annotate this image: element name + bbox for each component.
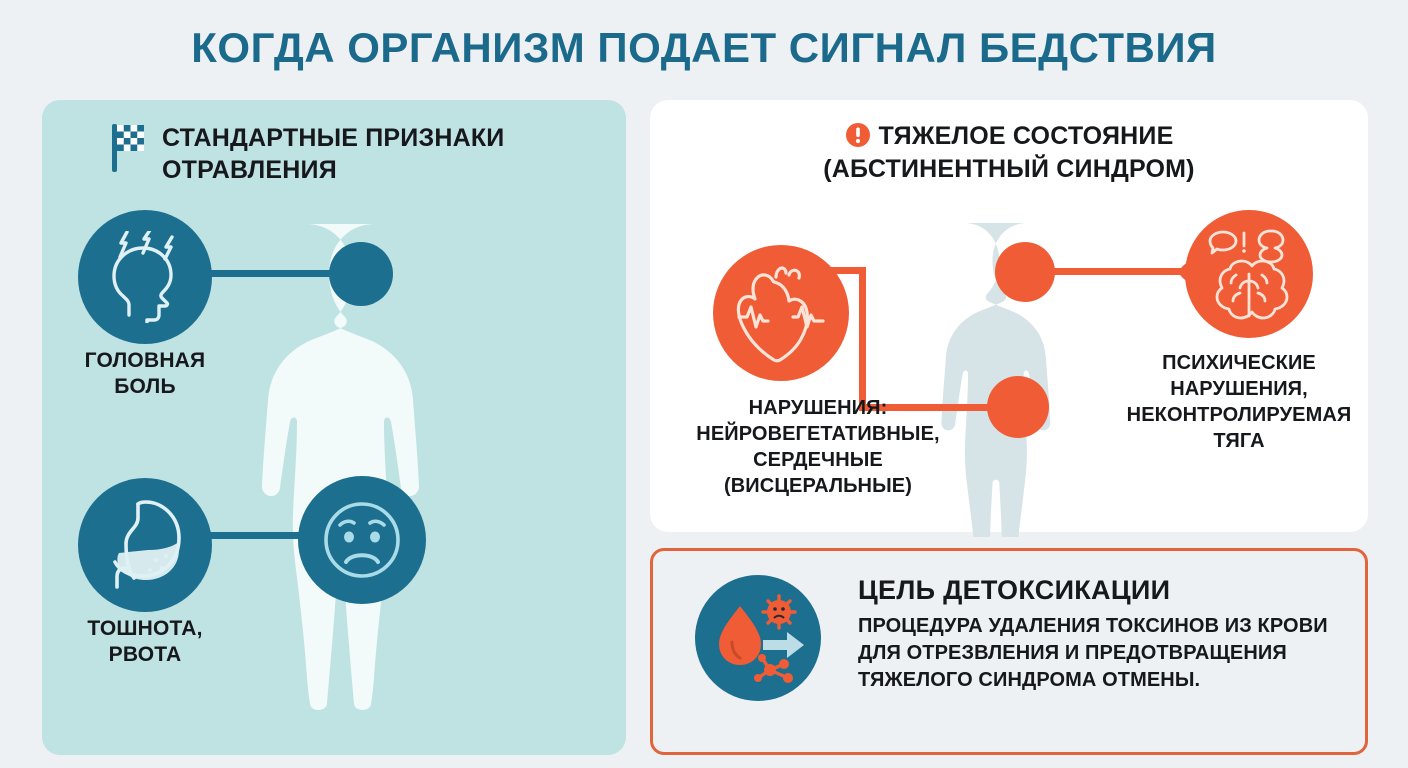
- label-nausea-line2: РВОТА: [109, 643, 182, 666]
- label-nausea-line1: ТОШНОТА,: [87, 617, 202, 640]
- left-heading-line1: СТАНДАРТНЫЕ ПРИЗНАКИ: [162, 124, 504, 152]
- stomach-icon: [98, 498, 192, 592]
- connector-brain: [1049, 268, 1183, 275]
- heart-icon-circle: [713, 245, 849, 381]
- label-visceral-line4: (ВИСЦЕРАЛЬНЫЕ): [658, 473, 978, 499]
- virus-glyph: [763, 596, 795, 628]
- detox-title: ЦЕЛЬ ДЕТОКСИКАЦИИ: [858, 575, 1170, 606]
- brain-icon-circle: [1185, 210, 1313, 338]
- sad-face-circle: [298, 476, 426, 604]
- label-headache-line1: ГОЛОВНАЯ: [85, 349, 206, 372]
- right-heading-line1: ТЯЖЕЛОЕ СОСТОЯНИЕ: [879, 122, 1174, 150]
- warning-exclamation-icon: [845, 122, 871, 148]
- label-psychic-line1: ПСИХИЧЕСКИЕ: [1110, 350, 1368, 376]
- label-headache: ГОЛОВНАЯ БОЛЬ: [68, 348, 222, 401]
- detox-body-line3: ТЯЖЕЛОГО СИНДРОМА ОТМЕНЫ.: [858, 667, 1358, 694]
- headache-head-icon: [99, 231, 191, 323]
- checkered-flag-icon: [110, 122, 148, 174]
- right-panel: ТЯЖЕЛОЕ СОСТОЯНИЕ (АБСТИНЕНТНЫЙ СИНДРОМ): [650, 100, 1368, 532]
- label-headache-line2: БОЛЬ: [114, 375, 176, 398]
- node-head-right: [995, 242, 1055, 302]
- stomach-icon-circle: [78, 478, 212, 612]
- label-nausea: ТОШНОТА, РВОТА: [68, 616, 222, 669]
- label-psychic: ПСИХИЧЕСКИЕ НАРУШЕНИЯ, НЕКОНТРОЛИРУЕМАЯ …: [1110, 350, 1368, 454]
- detox-body-line2: ДЛЯ ОТРЕЗВЛЕНИЯ И ПРЕДОТВРАЩЕНИЯ: [858, 640, 1358, 667]
- label-visceral-line1: НАРУШЕНИЯ:: [658, 395, 978, 421]
- detox-icon-circle: [695, 575, 821, 701]
- left-panel-header: СТАНДАРТНЫЕ ПРИЗНАКИ ОТРАВЛЕНИЯ: [110, 122, 504, 186]
- brain-thoughts-icon: [1200, 225, 1298, 323]
- label-visceral-line3: СЕРДЕЧНЫЕ: [658, 447, 978, 473]
- page-title: КОГДА ОРГАНИЗМ ПОДАЕТ СИГНАЛ БЕДСТВИЯ: [0, 24, 1408, 72]
- headache-icon-circle: [78, 210, 212, 344]
- right-panel-header: ТЯЖЕЛОЕ СОСТОЯНИЕ (АБСТИНЕНТНЫЙ СИНДРОМ): [650, 120, 1368, 185]
- label-visceral-line2: НЕЙРОВЕГЕТАТИВНЫЕ,: [658, 421, 978, 447]
- right-heading-line1-wrap: ТЯЖЕЛОЕ СОСТОЯНИЕ: [845, 122, 1174, 150]
- node-chest-right: [987, 376, 1049, 438]
- node-head-left: [329, 242, 393, 306]
- connector-headache: [200, 270, 340, 277]
- left-panel-heading: СТАНДАРТНЫЕ ПРИЗНАКИ ОТРАВЛЕНИЯ: [162, 122, 504, 186]
- detox-body-line1: ПРОЦЕДУРА УДАЛЕНИЯ ТОКСИНОВ ИЗ КРОВИ: [858, 613, 1358, 640]
- detox-panel: ЦЕЛЬ ДЕТОКСИКАЦИИ ПРОЦЕДУРА УДАЛЕНИЯ ТОК…: [650, 548, 1368, 755]
- label-psychic-line4: ТЯГА: [1110, 428, 1368, 454]
- blood-drop-detox-icon: [710, 590, 806, 686]
- heart-ecg-icon: [729, 261, 833, 365]
- label-psychic-line3: НЕКОНТРОЛИРУЕМАЯ: [1110, 402, 1368, 428]
- label-psychic-line2: НАРУШЕНИЯ,: [1110, 376, 1368, 402]
- left-heading-line2: ОТРАВЛЕНИЯ: [162, 156, 337, 184]
- right-heading-line2: (АБСТИНЕНТНЫЙ СИНДРОМ): [823, 155, 1194, 183]
- molecule-glyph: [754, 654, 793, 683]
- left-panel: СТАНДАРТНЫЕ ПРИЗНАКИ ОТРАВЛЕНИЯ: [42, 100, 626, 755]
- sad-face-icon: [314, 492, 410, 588]
- detox-body: ПРОЦЕДУРА УДАЛЕНИЯ ТОКСИНОВ ИЗ КРОВИ ДЛЯ…: [858, 613, 1358, 694]
- connector-heart-vertical: [859, 270, 866, 411]
- infographic-root: КОГДА ОРГАНИЗМ ПОДАЕТ СИГНАЛ БЕДСТВИЯ: [0, 0, 1408, 768]
- label-visceral: НАРУШЕНИЯ: НЕЙРОВЕГЕТАТИВНЫЕ, СЕРДЕЧНЫЕ …: [658, 395, 978, 499]
